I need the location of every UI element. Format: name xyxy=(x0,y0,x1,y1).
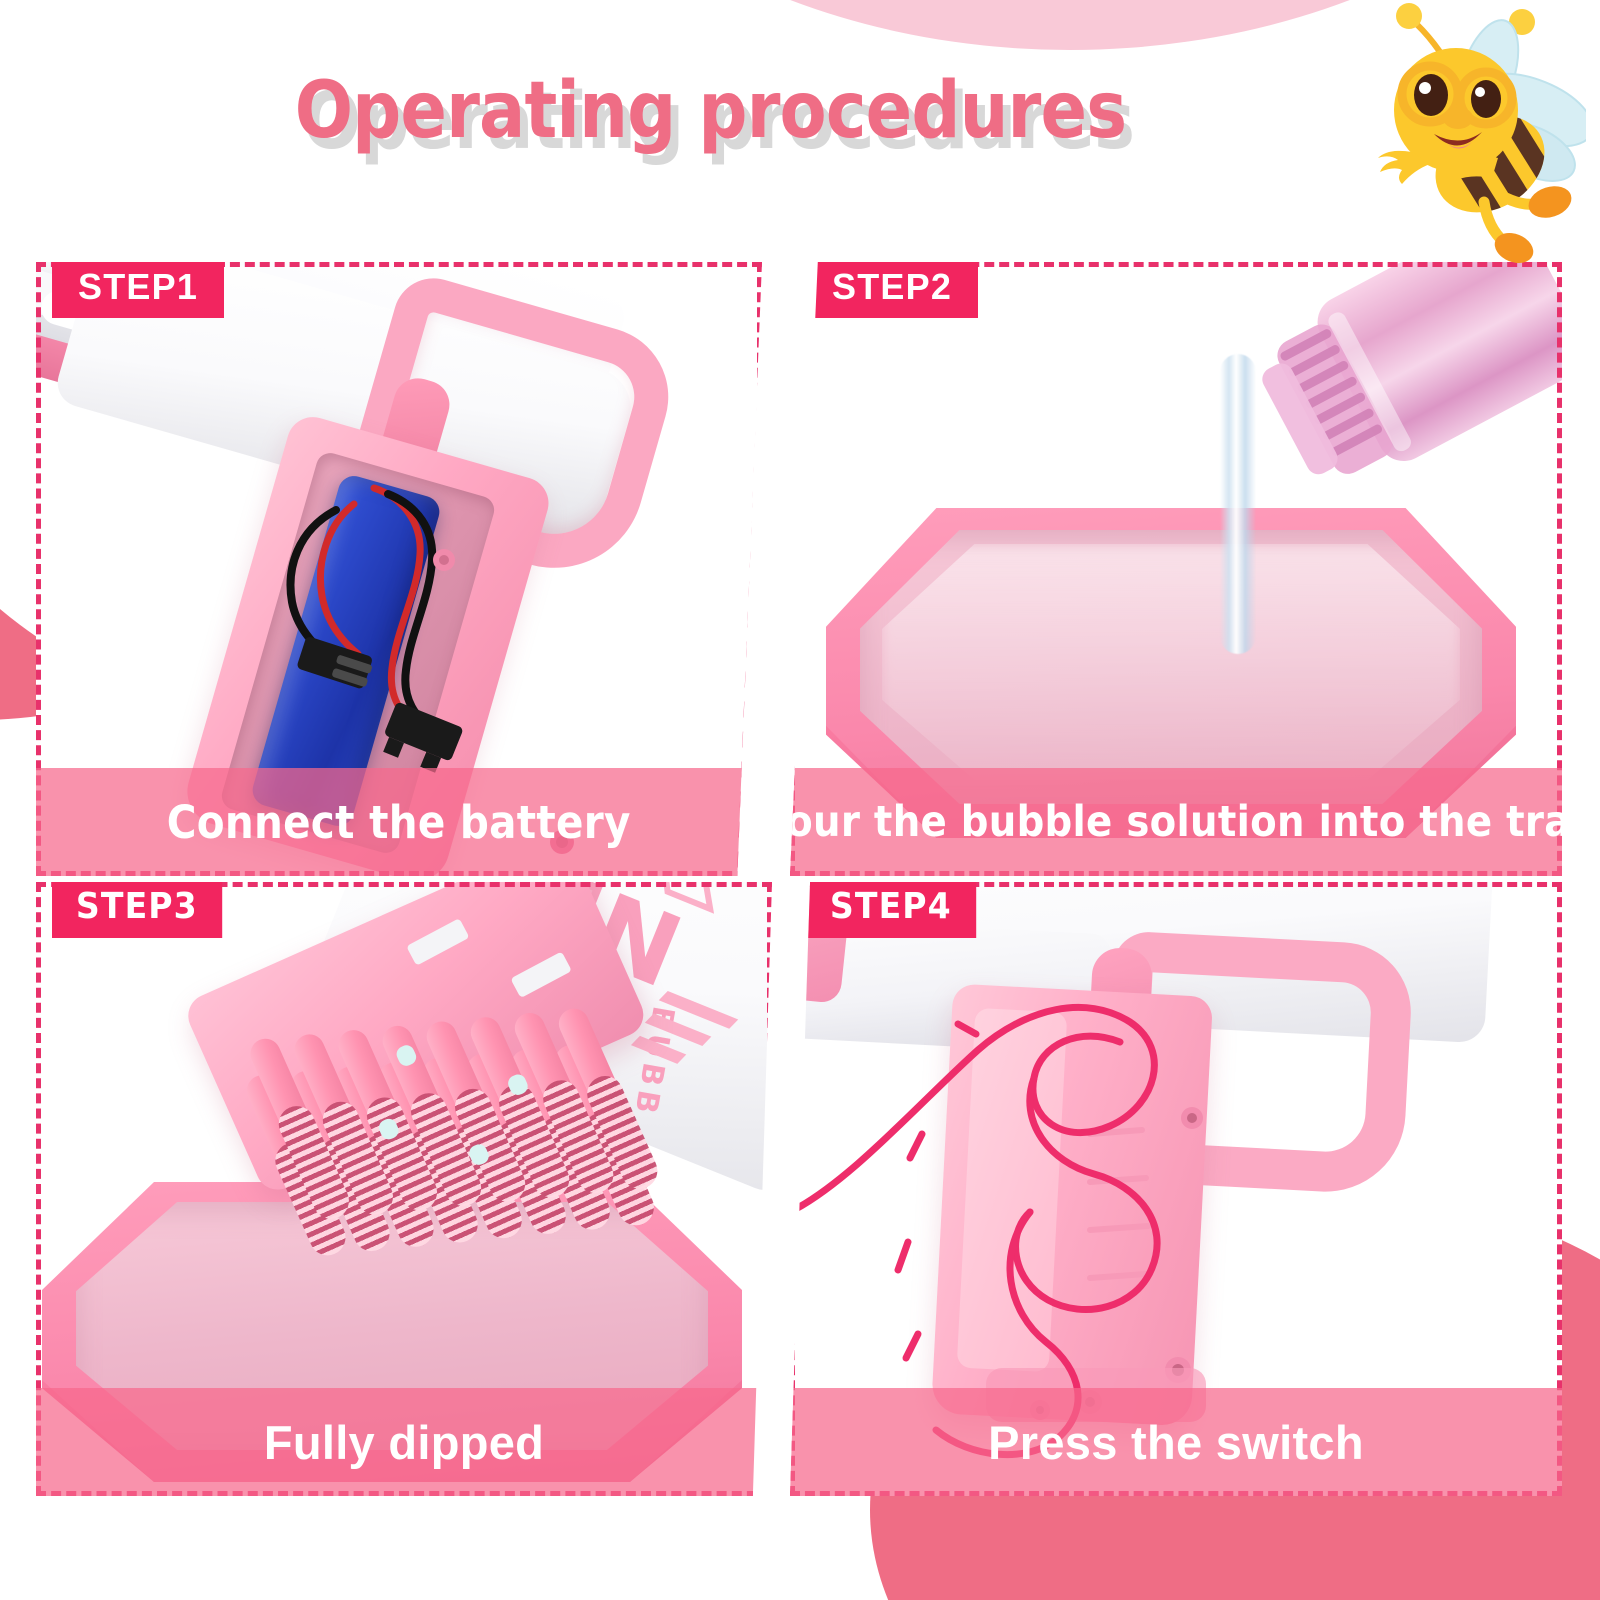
step-caption-bar-4: Press the switch xyxy=(790,1388,1562,1496)
step-caption-bar-1: Connect the battery xyxy=(36,768,762,876)
step-badge-1: STEP1 xyxy=(52,262,224,318)
step-caption-text-4: Press the switch xyxy=(988,1415,1364,1470)
step-panel-3: IN BUBB xyxy=(36,882,772,1496)
step-caption-text-1: Connect the battery xyxy=(167,796,631,849)
bee-mascot-icon xyxy=(1338,2,1586,264)
step-caption-text-3: Fully dipped xyxy=(264,1415,544,1470)
step-panel-4: STEP4 Press the switch xyxy=(790,882,1562,1496)
step-caption-bar-3: Fully dipped xyxy=(36,1388,772,1496)
step-panel-1: STEP1 Connect the battery xyxy=(36,262,762,876)
panel-divider-4 xyxy=(790,882,793,1496)
step-badge-2: STEP2 xyxy=(806,262,978,318)
step-caption-text-2: Pour the bubble solution into the tray xyxy=(790,797,1562,847)
page-title-text: Operating procedures xyxy=(294,66,1125,156)
step-panel-2: STEP2 Pour the bubble solution into the … xyxy=(790,262,1562,876)
solution-bottle xyxy=(1220,262,1562,535)
panel-divider-2 xyxy=(790,262,793,876)
solution-bottle-shape xyxy=(1220,262,1562,535)
pouring-liquid-stream xyxy=(1220,354,1256,654)
step-badge-3: STEP3 xyxy=(52,882,222,938)
step-badge-4: STEP4 xyxy=(806,882,976,938)
tray-liquid-sheen xyxy=(882,544,1460,780)
step-caption-bar-2: Pour the bubble solution into the tray xyxy=(790,768,1562,876)
page-title: Operating procedures Operating procedure… xyxy=(0,72,1420,192)
